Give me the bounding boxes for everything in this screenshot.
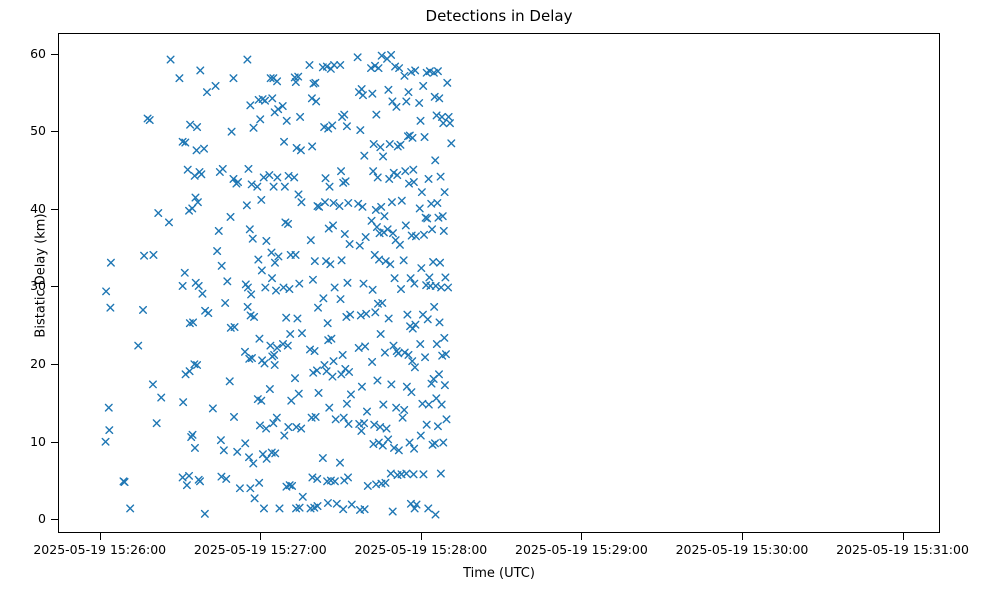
scatter-point xyxy=(179,283,186,290)
scatter-point xyxy=(362,343,369,350)
scatter-point xyxy=(322,175,329,182)
scatter-point xyxy=(389,199,396,206)
scatter-point xyxy=(441,228,448,235)
scatter-point xyxy=(401,407,408,414)
scatter-point xyxy=(340,180,347,187)
scatter-point xyxy=(398,286,405,293)
scatter-point xyxy=(397,142,404,149)
x-tick-mark xyxy=(260,533,261,540)
scatter-point xyxy=(380,401,387,408)
scatter-point xyxy=(359,204,366,211)
scatter-point xyxy=(237,485,244,492)
scatter-point xyxy=(288,397,295,404)
scatter-point xyxy=(286,286,293,293)
scatter-point xyxy=(294,315,301,322)
y-tick-label: 50 xyxy=(30,124,46,137)
scatter-point xyxy=(438,401,445,408)
scatter-point xyxy=(410,166,417,173)
scatter-point xyxy=(422,354,429,361)
scatter-point xyxy=(269,95,276,102)
scatter-point xyxy=(374,377,381,384)
scatter-point xyxy=(274,174,281,181)
scatter-point xyxy=(202,511,209,518)
scatter-point xyxy=(250,124,257,131)
scatter-point xyxy=(176,75,183,82)
scatter-point xyxy=(362,234,369,241)
scatter-point xyxy=(282,219,289,226)
scatter-point xyxy=(364,408,371,415)
scatter-point xyxy=(199,290,206,297)
scatter-point xyxy=(246,226,253,233)
scatter-point xyxy=(339,114,346,121)
scatter-point xyxy=(326,404,333,411)
scatter-point xyxy=(249,235,256,242)
scatter-point xyxy=(403,470,410,477)
scatter-point xyxy=(408,389,415,396)
scatter-point xyxy=(221,447,228,454)
scatter-point xyxy=(323,258,330,265)
scatter-point xyxy=(344,123,351,130)
scatter-point xyxy=(205,310,212,317)
scatter-point xyxy=(340,506,347,513)
scatter-point xyxy=(296,280,303,287)
scatter-series xyxy=(59,34,940,533)
scatter-point xyxy=(283,314,290,321)
scatter-point xyxy=(421,231,428,238)
scatter-point xyxy=(360,92,367,99)
scatter-point xyxy=(263,238,270,245)
scatter-point xyxy=(339,352,346,359)
scatter-point xyxy=(326,183,333,190)
scatter-point xyxy=(105,404,112,411)
x-tick-label: 2025-05-19 15:26:00 xyxy=(33,543,166,557)
scatter-point xyxy=(292,252,299,259)
scatter-point xyxy=(370,141,377,148)
scatter-point xyxy=(321,362,328,369)
scatter-point xyxy=(354,54,361,61)
scatter-point xyxy=(434,341,441,348)
scatter-point xyxy=(346,241,353,248)
scatter-point xyxy=(373,111,380,118)
scatter-point xyxy=(390,169,397,176)
y-tick-mark xyxy=(51,442,58,443)
scatter-point xyxy=(184,482,191,489)
scatter-point xyxy=(222,300,229,307)
scatter-point xyxy=(369,90,376,97)
scatter-point xyxy=(310,276,317,283)
scatter-point xyxy=(267,342,274,349)
scatter-point xyxy=(337,296,344,303)
scatter-point xyxy=(258,197,265,204)
scatter-point xyxy=(244,304,251,311)
scatter-point xyxy=(371,421,378,428)
scatter-point xyxy=(402,168,409,175)
scatter-point xyxy=(327,261,334,268)
scatter-point xyxy=(281,432,288,439)
scatter-point xyxy=(345,474,352,481)
scatter-point xyxy=(375,65,382,72)
scatter-point xyxy=(267,386,274,393)
scatter-point xyxy=(342,366,349,373)
x-tick-mark xyxy=(421,533,422,540)
scatter-point xyxy=(215,228,222,235)
scatter-point xyxy=(383,425,390,432)
y-tick-label: 30 xyxy=(30,279,46,292)
scatter-point xyxy=(377,424,384,431)
scatter-point xyxy=(341,231,348,238)
scatter-point xyxy=(295,191,302,198)
scatter-point xyxy=(242,349,249,356)
scatter-point xyxy=(308,237,315,244)
scatter-point xyxy=(292,375,299,382)
x-tick-mark xyxy=(903,533,904,540)
scatter-point xyxy=(246,454,253,461)
scatter-point xyxy=(248,291,255,298)
scatter-point xyxy=(268,249,275,256)
scatter-point xyxy=(329,373,336,380)
scatter-point xyxy=(340,414,347,421)
scatter-point xyxy=(299,330,306,337)
x-tick-mark xyxy=(100,533,101,540)
scatter-point xyxy=(361,506,368,513)
scatter-point xyxy=(405,89,412,96)
y-tick-mark xyxy=(51,131,58,132)
y-tick-label: 0 xyxy=(38,512,46,525)
scatter-point xyxy=(432,511,439,518)
scatter-point xyxy=(337,459,344,466)
scatter-point xyxy=(140,307,147,314)
scatter-point xyxy=(332,416,339,423)
scatter-point xyxy=(245,284,252,291)
scatter-point xyxy=(437,173,444,180)
scatter-point xyxy=(108,259,115,266)
scatter-point xyxy=(187,121,194,128)
scatter-point xyxy=(388,381,395,388)
scatter-point xyxy=(179,474,186,481)
scatter-point xyxy=(285,424,292,431)
scatter-point xyxy=(287,331,294,338)
scatter-point xyxy=(330,222,337,229)
scatter-point xyxy=(281,138,288,145)
scatter-point xyxy=(433,112,440,119)
scatter-point xyxy=(419,400,426,407)
plot-area xyxy=(58,33,940,533)
scatter-point xyxy=(180,399,187,406)
scatter-point xyxy=(380,153,387,160)
scatter-point xyxy=(244,202,251,209)
scatter-point xyxy=(274,78,281,85)
scatter-point xyxy=(262,97,269,104)
scatter-point xyxy=(385,315,392,322)
scatter-point xyxy=(245,166,252,173)
scatter-points xyxy=(102,52,454,518)
scatter-point xyxy=(372,309,379,316)
scatter-point xyxy=(376,256,383,263)
scatter-point xyxy=(186,473,193,480)
scatter-point xyxy=(445,114,452,121)
scatter-point xyxy=(369,287,376,294)
scatter-point xyxy=(155,210,162,217)
scatter-point xyxy=(388,470,395,477)
x-tick-label: 2025-05-19 15:27:00 xyxy=(194,543,327,557)
scatter-point xyxy=(261,505,268,512)
scatter-point xyxy=(338,168,345,175)
scatter-point xyxy=(425,505,432,512)
scatter-point xyxy=(398,197,405,204)
scatter-point xyxy=(135,342,142,349)
y-tick-label: 60 xyxy=(30,47,46,60)
scatter-point xyxy=(337,62,344,69)
x-tick-label: 2025-05-19 15:28:00 xyxy=(354,543,487,557)
scatter-point xyxy=(330,358,337,365)
scatter-point xyxy=(426,401,433,408)
y-tick-mark xyxy=(51,364,58,365)
scatter-point xyxy=(194,124,201,131)
scatter-point xyxy=(325,225,332,232)
scatter-point xyxy=(158,394,165,401)
scatter-point xyxy=(442,382,449,389)
scatter-point xyxy=(247,485,254,492)
scatter-point xyxy=(297,114,304,121)
scatter-point xyxy=(432,157,439,164)
scatter-point xyxy=(393,104,400,111)
scatter-point xyxy=(370,168,377,175)
scatter-point xyxy=(435,423,442,430)
scatter-point xyxy=(441,335,448,342)
scatter-point xyxy=(369,359,376,366)
scatter-point xyxy=(315,304,322,311)
scatter-point xyxy=(214,248,221,255)
scatter-point xyxy=(382,349,389,356)
scatter-point xyxy=(166,219,173,226)
scatter-point xyxy=(269,275,276,282)
scatter-point xyxy=(421,134,428,141)
y-tick-mark xyxy=(51,54,58,55)
scatter-point xyxy=(399,414,406,421)
y-tick-mark xyxy=(51,519,58,520)
scatter-point xyxy=(282,183,289,190)
scatter-point xyxy=(256,480,263,487)
scatter-point xyxy=(418,265,425,272)
scatter-point xyxy=(234,449,241,456)
scatter-point xyxy=(331,62,338,69)
scatter-point xyxy=(150,252,157,259)
scatter-point xyxy=(441,189,448,196)
scatter-point xyxy=(247,102,254,109)
scatter-point xyxy=(306,62,313,69)
scatter-point xyxy=(437,259,444,266)
scatter-point xyxy=(231,414,238,421)
scatter-point xyxy=(417,118,424,125)
scatter-point xyxy=(425,176,432,183)
scatter-point xyxy=(430,259,437,266)
scatter-point xyxy=(440,439,447,446)
scatter-point xyxy=(338,371,345,378)
scatter-point xyxy=(329,122,336,129)
scatter-point xyxy=(358,428,365,435)
scatter-point xyxy=(391,275,398,282)
scatter-point xyxy=(262,284,269,291)
scatter-point xyxy=(357,127,364,134)
scatter-point xyxy=(273,287,280,294)
scatter-point xyxy=(271,109,278,116)
scatter-point xyxy=(426,274,433,281)
scatter-point xyxy=(359,383,366,390)
scatter-point xyxy=(141,252,148,259)
scatter-point xyxy=(365,483,372,490)
scatter-point xyxy=(360,280,367,287)
scatter-point xyxy=(424,316,431,323)
scatter-point xyxy=(256,335,263,342)
x-tick-label: 2025-05-19 15:31:00 xyxy=(836,543,969,557)
scatter-point xyxy=(270,183,277,190)
scatter-point xyxy=(423,421,430,428)
scatter-point xyxy=(374,174,381,181)
scatter-point xyxy=(438,470,445,477)
scatter-point xyxy=(333,500,340,507)
scatter-point xyxy=(269,353,276,360)
scatter-point xyxy=(204,89,211,96)
scatter-point xyxy=(324,320,331,327)
scatter-point xyxy=(410,471,417,478)
scatter-point xyxy=(388,52,395,59)
scatter-point xyxy=(228,128,235,135)
page-title: Detections in Delay xyxy=(58,7,940,25)
scatter-point xyxy=(438,284,445,291)
scatter-point xyxy=(191,173,198,180)
scatter-point xyxy=(313,98,320,105)
scatter-point xyxy=(403,222,410,229)
chart-figure: Detections in Delay Bistatic Delay (km) … xyxy=(0,0,985,590)
scatter-point xyxy=(218,262,225,269)
scatter-point xyxy=(219,166,226,173)
scatter-point xyxy=(309,95,316,102)
scatter-point xyxy=(431,304,438,311)
scatter-point xyxy=(251,495,258,502)
scatter-point xyxy=(348,501,355,508)
scatter-point xyxy=(295,390,302,397)
scatter-point xyxy=(389,508,396,515)
scatter-point xyxy=(413,233,420,240)
scatter-point xyxy=(283,118,290,125)
scatter-point xyxy=(393,404,400,411)
scatter-point xyxy=(345,421,352,428)
scatter-point xyxy=(374,224,381,231)
y-tick-label: 40 xyxy=(30,202,46,215)
scatter-point xyxy=(320,455,327,462)
scatter-point xyxy=(381,213,388,220)
scatter-point xyxy=(276,505,283,512)
scatter-point xyxy=(385,436,392,443)
scatter-point xyxy=(218,437,225,444)
scatter-point xyxy=(429,226,436,233)
scatter-point xyxy=(257,116,264,123)
scatter-point xyxy=(348,391,355,398)
scatter-point xyxy=(417,432,424,439)
scatter-point xyxy=(242,440,249,447)
scatter-point xyxy=(389,98,396,105)
scatter-point xyxy=(331,284,338,291)
scatter-point xyxy=(226,378,233,385)
scatter-point xyxy=(363,311,370,318)
scatter-point xyxy=(412,364,419,371)
x-tick-mark xyxy=(742,533,743,540)
scatter-point xyxy=(416,205,423,212)
scatter-point xyxy=(355,200,362,207)
scatter-point xyxy=(103,288,110,295)
scatter-point xyxy=(409,358,416,365)
scatter-point xyxy=(377,144,384,151)
scatter-point xyxy=(409,325,416,332)
scatter-point xyxy=(436,371,443,378)
scatter-point xyxy=(193,147,200,154)
x-tick-mark xyxy=(581,533,582,540)
scatter-point xyxy=(197,67,204,74)
y-tick-mark xyxy=(51,286,58,287)
scatter-point xyxy=(315,390,322,397)
scatter-point xyxy=(322,199,329,206)
scatter-point xyxy=(107,304,114,311)
scatter-point xyxy=(271,362,278,369)
scatter-point xyxy=(153,420,160,427)
scatter-point xyxy=(227,214,234,221)
scatter-point xyxy=(344,280,351,287)
scatter-point xyxy=(361,420,368,427)
scatter-point xyxy=(201,145,208,152)
scatter-point xyxy=(244,56,251,63)
scatter-point xyxy=(379,300,386,307)
scatter-point xyxy=(386,176,393,183)
scatter-point xyxy=(434,200,441,207)
scatter-point xyxy=(261,360,268,367)
scatter-point xyxy=(186,368,193,375)
scatter-point xyxy=(259,267,266,274)
scatter-point xyxy=(397,242,404,249)
scatter-point xyxy=(181,269,188,276)
scatter-point xyxy=(442,274,449,281)
scatter-point xyxy=(224,278,231,285)
scatter-point xyxy=(417,341,424,348)
scatter-point xyxy=(361,152,368,159)
scatter-point xyxy=(167,56,174,63)
scatter-point xyxy=(263,456,270,463)
scatter-point xyxy=(411,445,418,452)
scatter-point xyxy=(416,100,423,107)
scatter-point xyxy=(106,427,113,434)
y-tick-label: 20 xyxy=(30,357,46,370)
scatter-point xyxy=(309,143,316,150)
scatter-point xyxy=(432,440,439,447)
scatter-point xyxy=(212,83,219,90)
scatter-point xyxy=(325,500,332,507)
scatter-point xyxy=(146,117,153,124)
scatter-point xyxy=(184,166,191,173)
scatter-point xyxy=(445,284,452,291)
scatter-point xyxy=(400,257,407,264)
scatter-point xyxy=(448,140,455,147)
scatter-point xyxy=(436,319,443,326)
scatter-point xyxy=(255,256,262,263)
y-axis-tick-labels: 0102030405060 xyxy=(0,0,46,590)
scatter-point xyxy=(320,295,327,302)
scatter-point xyxy=(298,199,305,206)
scatter-point xyxy=(406,439,413,446)
scatter-point xyxy=(344,400,351,407)
x-tick-label: 2025-05-19 15:30:00 xyxy=(676,543,809,557)
scatter-point xyxy=(338,257,345,264)
scatter-point xyxy=(250,460,257,467)
scatter-point xyxy=(291,174,298,181)
